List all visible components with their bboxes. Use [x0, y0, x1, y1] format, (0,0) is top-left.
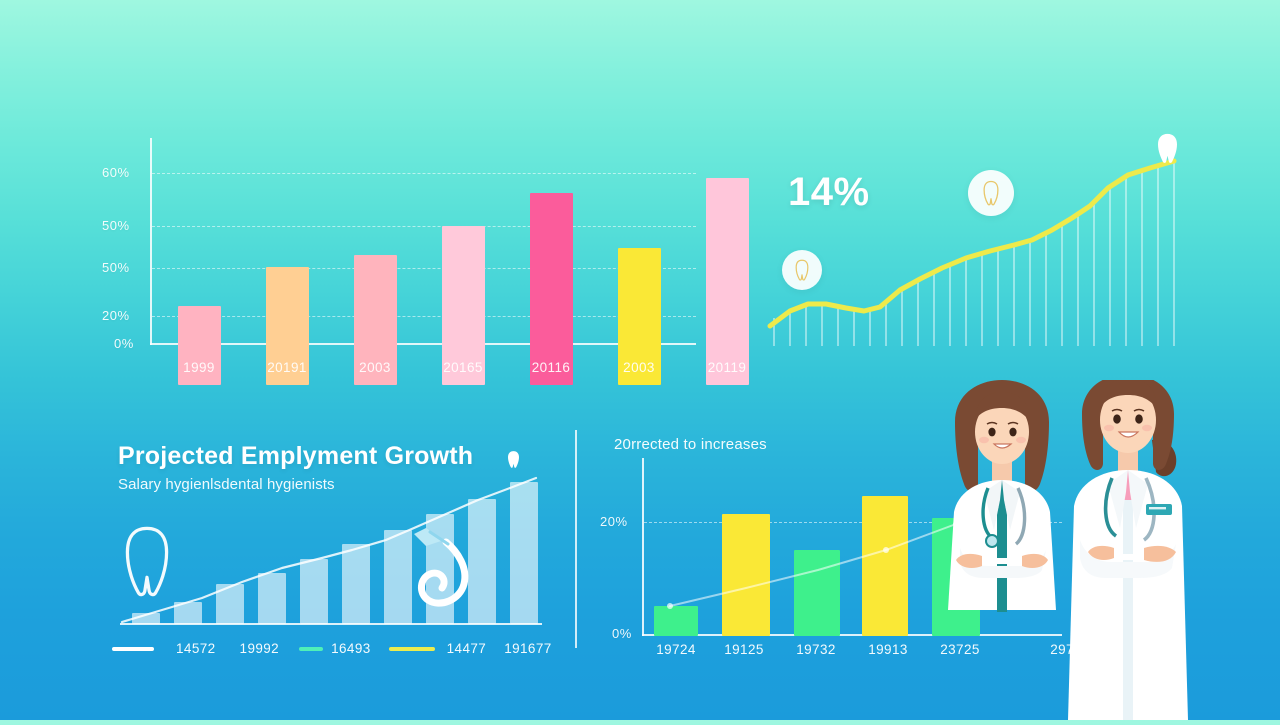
y-tick-label: 60% — [102, 165, 130, 180]
dental-hygienist-woman — [948, 380, 1056, 612]
y-tick-label: 20% — [102, 308, 130, 323]
bottom-left-legend: 14572 19992 16493 14477 191677 — [112, 641, 552, 656]
legend-swatch-green — [299, 647, 323, 651]
infographic-canvas: 60% 50% 50% 20% 0% 1999 20191 2003 20165… — [0, 0, 1280, 720]
gridline — [152, 268, 696, 269]
y-tick-label: 50% — [102, 260, 130, 275]
bottom-left-overlay-svg — [96, 432, 556, 662]
gridline — [152, 316, 696, 317]
trend-line — [122, 478, 536, 622]
x-tick-label: 2003 — [623, 360, 655, 375]
legend-swatch-yellow — [389, 647, 435, 651]
bar-5 — [530, 178, 573, 385]
x-tick-label: 20116 — [532, 360, 571, 375]
x-tick-label: 19125 — [724, 642, 764, 657]
legend-label: 19992 — [240, 641, 280, 656]
bar-4 — [442, 178, 485, 385]
bar-1 — [178, 178, 221, 385]
x-tick-label: 19724 — [656, 642, 696, 657]
tooth-badge-lower — [782, 250, 822, 290]
chart-bottom-left: Projected Emplyment Growth Salary hygien… — [96, 432, 556, 662]
gridline — [152, 226, 696, 227]
bar-2 — [266, 178, 309, 385]
x-tick-label: 20191 — [267, 360, 307, 375]
x-axis-line — [150, 343, 696, 345]
legend-label: 191677 — [504, 641, 551, 656]
dentist-woman — [1068, 380, 1188, 720]
line-point — [883, 547, 889, 553]
bar-6 — [618, 178, 661, 385]
bar-3 — [354, 178, 397, 385]
x-tick-label: 19732 — [796, 642, 836, 657]
x-tick-label: 19913 — [868, 642, 908, 657]
x-tick-label: 20119 — [708, 360, 747, 375]
y-tick-label: 50% — [102, 218, 130, 233]
panel-divider — [575, 430, 577, 648]
dental-scaler-icon — [414, 528, 465, 603]
legend-swatch-white — [112, 647, 154, 651]
legend-label: 16493 — [331, 641, 371, 656]
x-tick-label: 2003 — [359, 360, 391, 375]
line-point — [667, 603, 673, 609]
chart-top-right-line: 14% — [760, 118, 1200, 376]
y-axis-line — [150, 138, 152, 345]
bar-7 — [706, 178, 749, 385]
tooth-icon — [979, 180, 1003, 206]
dental-professionals-illustration — [930, 380, 1280, 720]
tooth-icon — [792, 259, 812, 281]
tooth-icon — [508, 451, 519, 468]
line-chart-svg — [760, 118, 1200, 376]
y-tick-label: 0% — [114, 336, 134, 351]
gridline — [152, 173, 696, 174]
tooth-badge-upper — [968, 170, 1014, 216]
x-tick-label: 20165 — [443, 360, 483, 375]
legend-label: 14477 — [447, 641, 487, 656]
x-tick-label: 1999 — [183, 360, 215, 375]
chart-top-left-bars: 60% 50% 50% 20% 0% 1999 20191 2003 20165… — [96, 130, 696, 385]
legend-label: 14572 — [176, 641, 216, 656]
